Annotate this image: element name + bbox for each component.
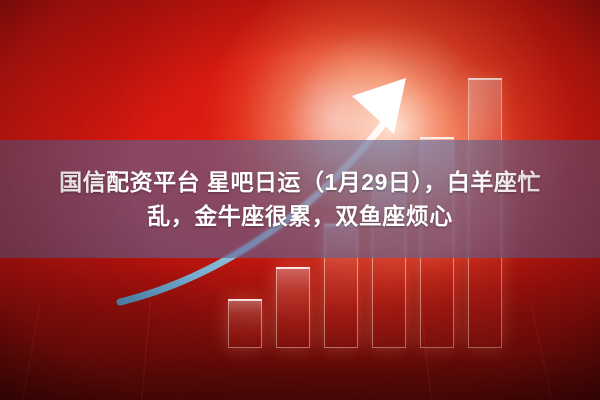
screenshot-root: 国信配资平台 星吧日运（1月29日），白羊座忙 乱，金牛座很累，双鱼座烦心 [0,0,600,400]
vignette-overlay [0,0,600,400]
